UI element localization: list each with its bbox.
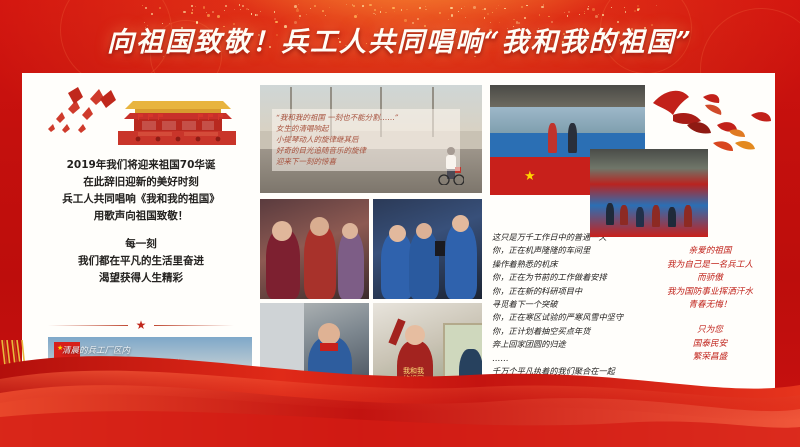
caption-line: 快闪队员纷纷开始行动 (62, 371, 252, 384)
verse-line: 而骄傲 (640, 272, 780, 286)
caption-line: 女生的清唱响起 (276, 123, 460, 134)
intro-line: 2019年我们将迎来祖国70华诞 (30, 157, 252, 174)
caption-line: 迎来下一刻的惊喜 (276, 156, 460, 167)
tiananmen-gate-icon (38, 85, 248, 147)
photo-elderly-women-singing (260, 199, 369, 299)
intro-line: 渴望获得人生精彩 (30, 270, 252, 287)
photo-caption: “我和我的祖国 一刻也不能分割……” 女生的清唱响起 小提琴动人的旋律继其后 好… (276, 112, 460, 167)
poster-stage: 向祖国致敬！兵工人共同唱响“我和我的祖国” (0, 0, 800, 447)
photo-worker-at-machine (260, 303, 369, 403)
gym-roof (490, 85, 645, 107)
photo-flash-mob-performance (590, 149, 708, 237)
photo-caption: 清晨的兵工厂区内 一场突如其来的快闪正在酝酿中 快闪队员纷纷开始行动 (62, 345, 252, 384)
verse-line: 只为您 (640, 324, 780, 338)
center-column: “我和我的祖国 一刻也不能分割……” 女生的清唱响起 小提琴动人的旋律继其后 好… (260, 81, 482, 395)
photo-workers-blue-uniform (373, 199, 482, 299)
red-star-icon: ★ (136, 319, 147, 331)
intro-line: 在此辞旧迎新的美好时刻 (30, 174, 252, 191)
photo-cyclist-street: “我和我的祖国 一刻也不能分割……” 女生的清唱响起 小提琴动人的旋律继其后 好… (260, 85, 482, 193)
intro-line: 用歌声向祖国致敬！ (30, 208, 252, 225)
photo-grid: 我和我的祖国 (260, 199, 482, 403)
poster-header: 向祖国致敬！兵工人共同唱响“我和我的祖国” (0, 0, 800, 73)
verse-line: 国泰民安 (640, 338, 780, 352)
verse-line: 青春无悔！ (640, 299, 780, 313)
verse-line: 我为国防事业挥洒汗水 (640, 286, 780, 300)
person-red-jacket (548, 123, 557, 153)
page-title: 向祖国致敬！兵工人共同唱响“我和我的祖国” (0, 20, 800, 59)
intro-line: 我们都在平凡的生活里奋进 (30, 253, 252, 270)
caption-line: 小提琴动人的旋律继其后 (276, 134, 460, 145)
gold-tassel-decor (0, 340, 40, 390)
caption-line: 清晨的兵工厂区内 (62, 345, 252, 358)
star-divider: ★ (48, 319, 234, 331)
left-intro-text: 2019年我们将迎来祖国70华诞 在此辞旧迎新的美好时刻 兵工人共同唱响《我和我… (30, 157, 252, 287)
caption-line: 一场突如其来的快闪正在酝酿中 (62, 358, 252, 371)
left-column: 2019年我们将迎来祖国70华诞 在此辞旧迎新的美好时刻 兵工人共同唱响《我和我… (30, 81, 252, 395)
flag-star-icon: ★ (524, 170, 536, 183)
caption-line: 好奇的目光追随音乐的旋律 (276, 145, 460, 156)
intro-line: 每一刻 (30, 236, 252, 253)
right-verse-text: 亲爱的祖国 我为自己是一名兵工人 而骄傲 我为国防事业挥洒汗水 青春无悔！ 只为… (640, 245, 780, 365)
intro-line: 兵工人共同唱响《我和我的祖国》 (30, 191, 252, 208)
verse-line: 亲爱的祖国 (640, 245, 780, 259)
verse-line: 繁荣昌盛 (640, 351, 780, 365)
verse-line: 我为自己是一名兵工人 (640, 259, 780, 273)
photo-girl-waving-red-hoodie: 我和我的祖国 (373, 303, 482, 403)
person-dark-jacket (568, 123, 577, 153)
caption-line: “我和我的祖国 一刻也不能分割……” (276, 112, 460, 123)
treeline (48, 389, 252, 403)
photo-factory-morning: ★ 清晨的兵工厂区内 一场突如其来的快闪正在酝酿中 快闪队员纷纷开始行动 (48, 337, 252, 403)
